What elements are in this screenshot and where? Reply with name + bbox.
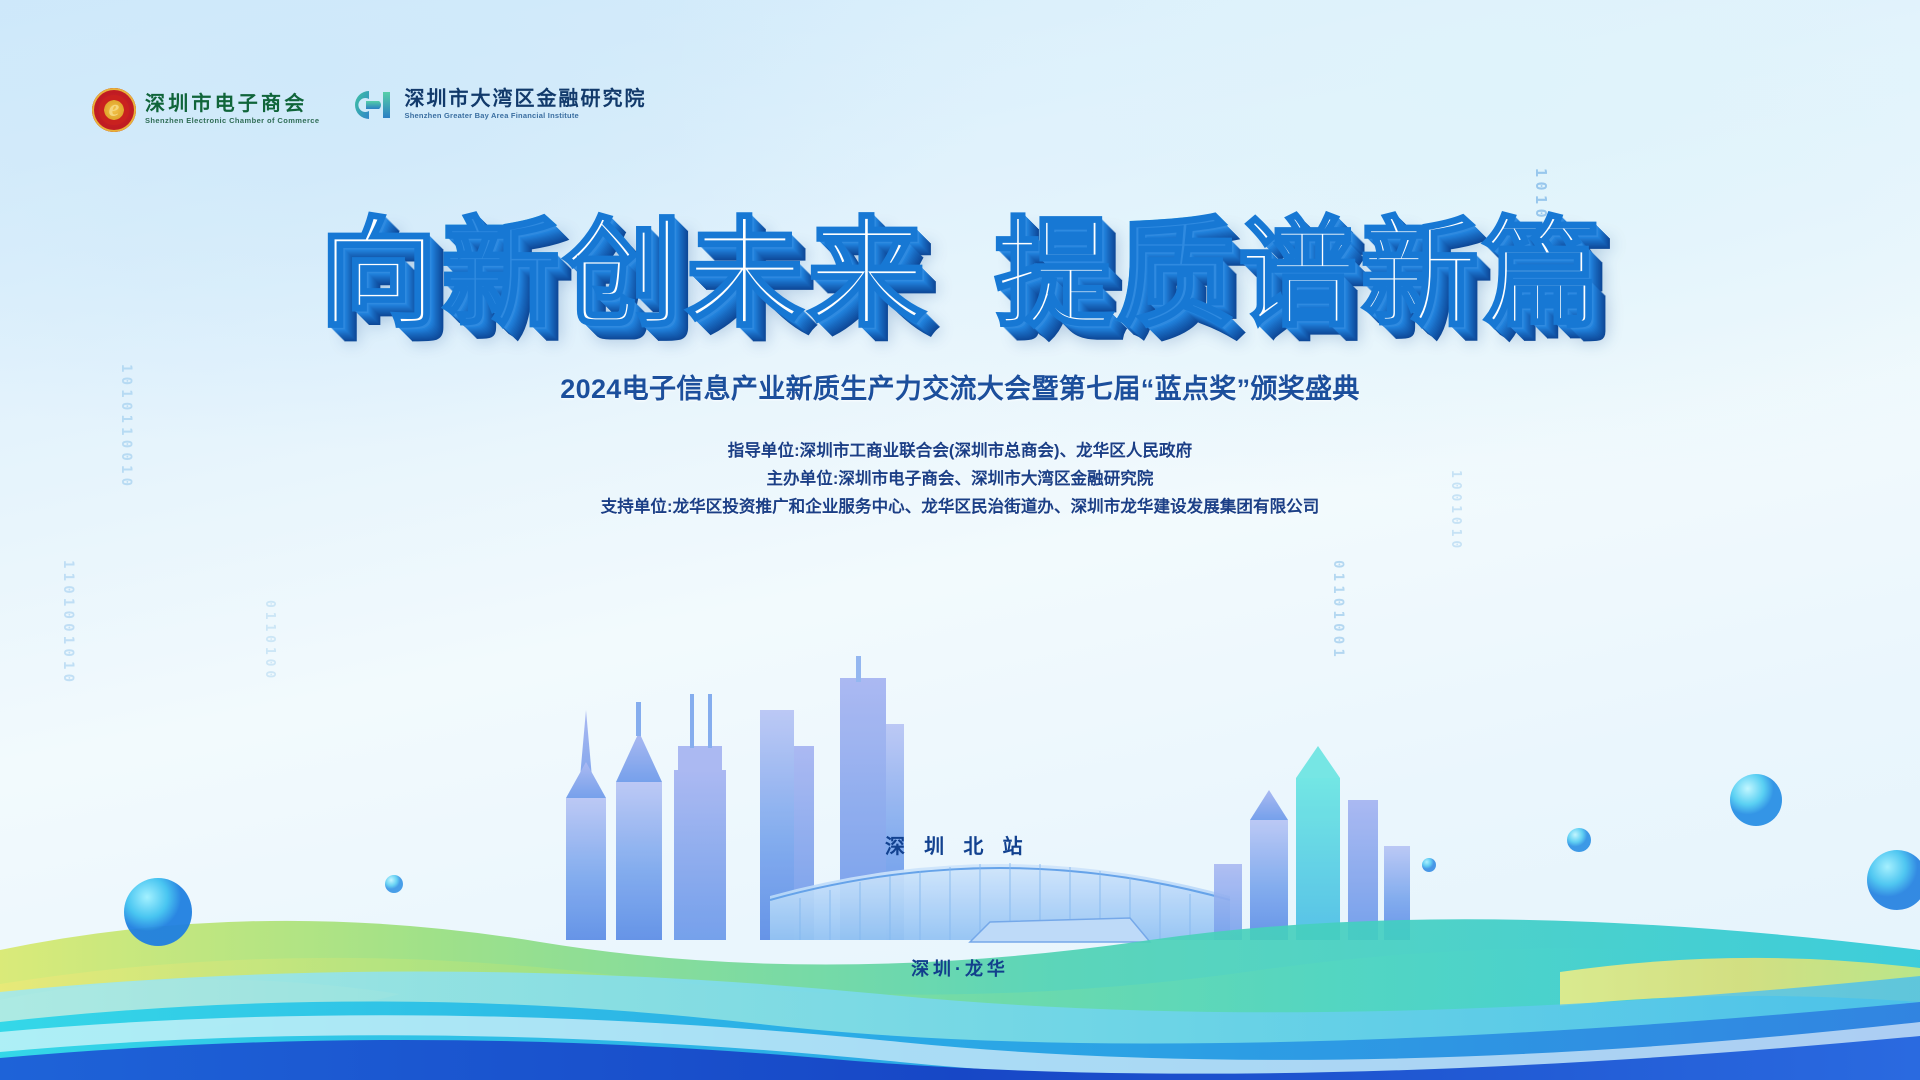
- logo-chinese-name: 深圳市大湾区金融研究院: [404, 89, 646, 110]
- event-subtitle: 2024电子信息产业新质生产力交流大会暨第七届“蓝点奖”颁奖盛典: [0, 367, 1920, 406]
- title-char: 新: [439, 216, 561, 334]
- main-title: 向新创未来 提质谱新篇: [0, 216, 1920, 334]
- binary-column: 0110100: [262, 600, 277, 682]
- station-label: 深 圳 北 站: [885, 830, 1029, 859]
- title-char: 来: [806, 216, 928, 334]
- city-label: 深圳·龙华: [0, 955, 1920, 981]
- logo-gba-financial-institute: 深圳市大湾区金融研究院 Shenzhen Greater Bay Area Fi…: [349, 88, 646, 122]
- logo-english-name: Shenzhen Greater Bay Area Financial Inst…: [404, 112, 646, 120]
- organizer-block: 指导单位:深圳市工商业联合会(深圳市总商会)、龙华区人民政府主办单位:深圳市电子…: [0, 437, 1920, 521]
- organizer-line: 支持单位:龙华区投资推广和企业服务中心、龙华区民治街道办、深圳市龙华建设发展集团…: [0, 493, 1920, 521]
- red-seal-emblem-icon: [92, 88, 136, 132]
- title-char: 创: [562, 216, 684, 334]
- title-char: 向: [317, 216, 439, 334]
- logo-shenzhen-electronic-chamber: 深圳市电子商会 Shenzhen Electronic Chamber of C…: [92, 88, 319, 132]
- title-char: 未: [684, 216, 806, 334]
- banner-canvas: 1010100011011010110010110100101001101000…: [0, 0, 1920, 1080]
- binary-column: 1101001010: [60, 560, 76, 686]
- organizer-line: 主办单位:深圳市电子商会、深圳市大湾区金融研究院: [0, 465, 1920, 493]
- organizer-line: 指导单位:深圳市工商业联合会(深圳市总商会)、龙华区人民政府: [0, 437, 1920, 465]
- title-char: 提: [992, 216, 1114, 334]
- binary-column: 01101001: [1330, 560, 1346, 661]
- skyline-group: [566, 656, 1410, 942]
- scenery-illustration: [0, 650, 1920, 1080]
- gbi-monogram-icon: [349, 88, 395, 122]
- logo-chinese-name: 深圳市电子商会: [145, 94, 319, 115]
- title-char: 新: [1359, 216, 1481, 334]
- title-phrase-1: 向新创未来: [317, 302, 927, 319]
- title-char: 篇: [1481, 216, 1603, 334]
- logo-english-name: Shenzhen Electronic Chamber of Commerce: [145, 117, 319, 125]
- title-char: 谱: [1236, 216, 1358, 334]
- logo-row: 深圳市电子商会 Shenzhen Electronic Chamber of C…: [92, 88, 646, 132]
- title-char: 质: [1114, 216, 1236, 334]
- title-phrase-2: 提质谱新篇: [992, 302, 1602, 319]
